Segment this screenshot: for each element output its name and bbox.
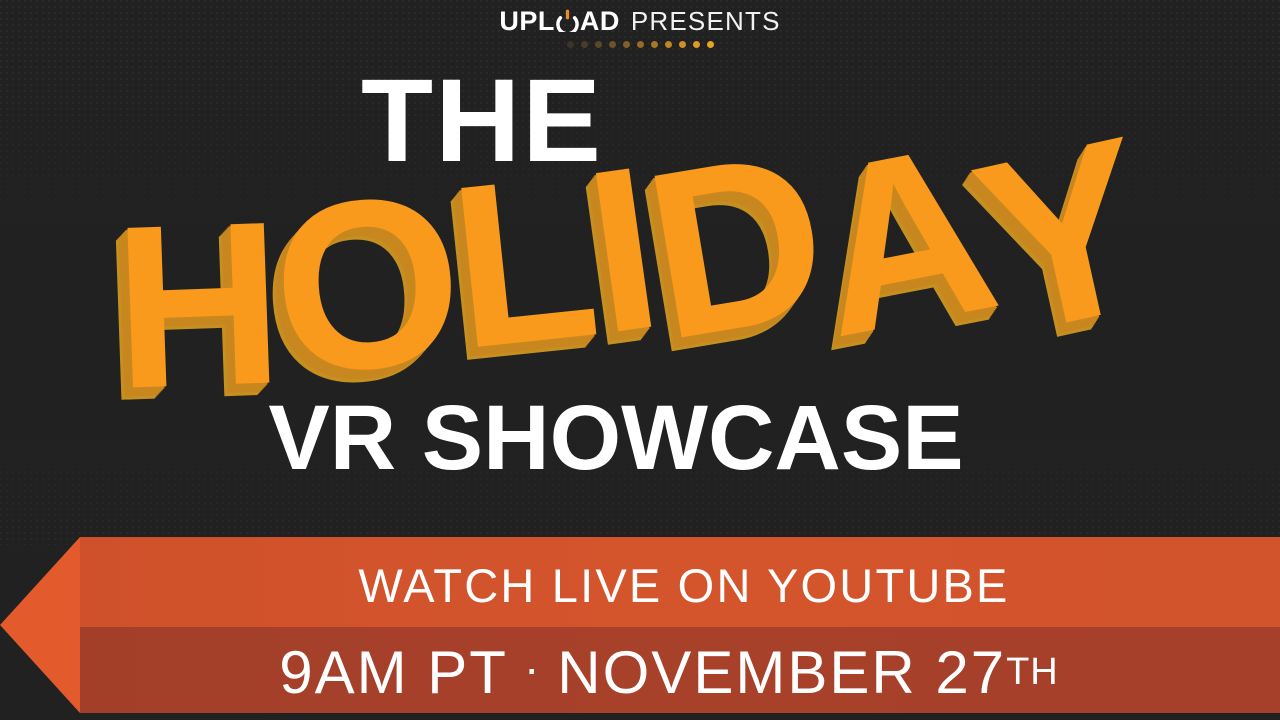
power-icon bbox=[556, 9, 579, 32]
progress-dot-7 bbox=[651, 41, 658, 48]
title-line-showcase: VR SHOWCASE bbox=[0, 392, 1256, 484]
progress-dot-5 bbox=[623, 41, 630, 48]
header-brand-row: UPL AD PRESENTS bbox=[499, 6, 780, 36]
progress-dot-11 bbox=[707, 41, 714, 48]
progress-dot-2 bbox=[581, 41, 588, 48]
upload-logo: UPL AD bbox=[499, 7, 620, 35]
progress-dot-6 bbox=[637, 41, 644, 48]
holiday-letter-o-2: O bbox=[266, 158, 469, 410]
promo-poster: UPL AD PRESENTS THE HOLIDAY VR SHOWCASE bbox=[0, 0, 1280, 720]
broadcast-banner: WATCH LIVE ON YOUTUBE 9AM PT · NOVEMBER … bbox=[0, 537, 1280, 713]
brand-text-post: AD bbox=[580, 8, 620, 35]
progress-dot-4 bbox=[609, 41, 616, 48]
brand-text-pre: UPL bbox=[499, 8, 555, 35]
header: UPL AD PRESENTS bbox=[0, 6, 1280, 48]
progress-dot-1 bbox=[567, 41, 574, 48]
progress-dot-9 bbox=[679, 41, 686, 48]
progress-dot-8 bbox=[665, 41, 672, 48]
presents-label: PRESENTS bbox=[631, 8, 781, 34]
progress-dot-10 bbox=[693, 41, 700, 48]
holiday-letter-h-1: H bbox=[111, 187, 287, 425]
progress-dot-3 bbox=[595, 41, 602, 48]
title-line-the: THE bbox=[0, 62, 1122, 180]
progress-dots bbox=[567, 41, 714, 48]
